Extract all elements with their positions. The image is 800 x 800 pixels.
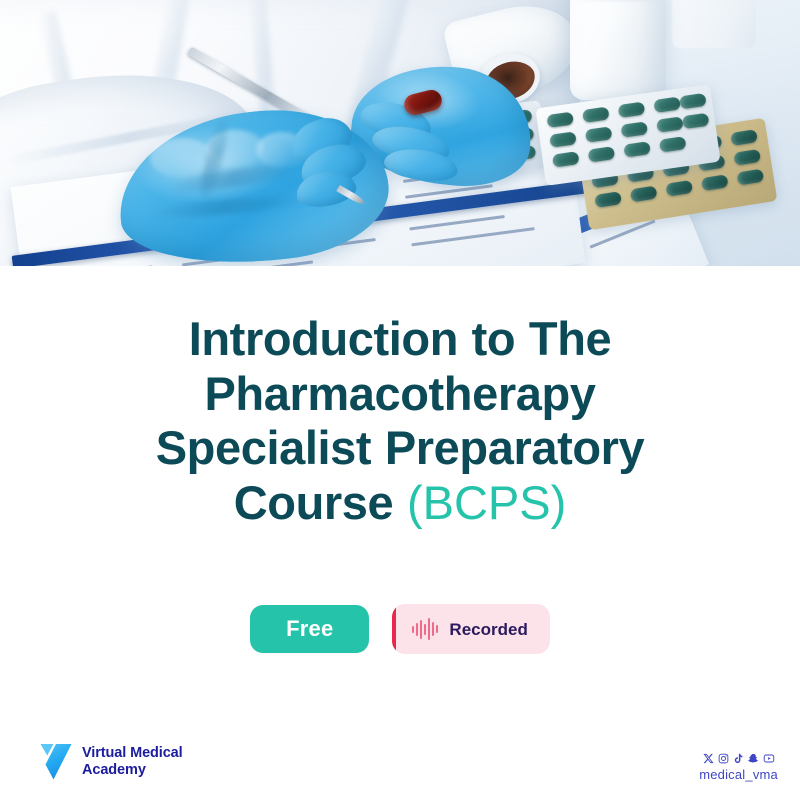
brand-logo[interactable]: Virtual Medical Academy bbox=[40, 742, 183, 782]
pill-bottle-upright bbox=[570, 0, 666, 100]
badge-recorded-label: Recorded bbox=[449, 621, 527, 638]
vma-v-mark-icon bbox=[40, 742, 72, 782]
pill-bottle-cap bbox=[578, 0, 658, 2]
course-promo-poster: LABO bbox=[0, 0, 800, 800]
content-area: Introduction to The Pharmacotherapy Spec… bbox=[0, 266, 800, 800]
audio-waveform-icon bbox=[412, 618, 438, 640]
instagram-icon[interactable] bbox=[718, 753, 729, 764]
title-line-2: Pharmacotherapy bbox=[204, 367, 595, 420]
title-accent-bcps: (BCPS) bbox=[407, 476, 566, 529]
hero-image: LABO bbox=[0, 0, 800, 266]
social-icon-row bbox=[699, 753, 778, 764]
brand-name-line-1: Virtual Medical bbox=[82, 745, 183, 761]
social-block: medical_vma bbox=[699, 753, 778, 782]
title-line-1: Introduction to The bbox=[189, 312, 612, 365]
badge-row: Free Recorded bbox=[0, 604, 800, 654]
youtube-icon[interactable] bbox=[763, 753, 775, 764]
badge-recorded[interactable]: Recorded bbox=[392, 604, 549, 654]
badge-free-label: Free bbox=[286, 616, 333, 641]
social-handle: medical_vma bbox=[699, 767, 778, 782]
x-twitter-icon[interactable] bbox=[703, 753, 714, 764]
title-line-4: Course bbox=[234, 476, 407, 529]
brand-logo-text: Virtual Medical Academy bbox=[82, 745, 183, 778]
snapchat-icon[interactable] bbox=[748, 753, 759, 764]
badge-free[interactable]: Free bbox=[250, 605, 369, 653]
course-title-block: Introduction to The Pharmacotherapy Spec… bbox=[0, 312, 800, 530]
title-line-3: Specialist Preparatory bbox=[156, 421, 645, 474]
brand-name-line-2: Academy bbox=[82, 762, 146, 778]
tiktok-icon[interactable] bbox=[733, 753, 744, 764]
pill-bottle-background bbox=[672, 0, 756, 48]
page-title: Introduction to The Pharmacotherapy Spec… bbox=[60, 312, 740, 530]
